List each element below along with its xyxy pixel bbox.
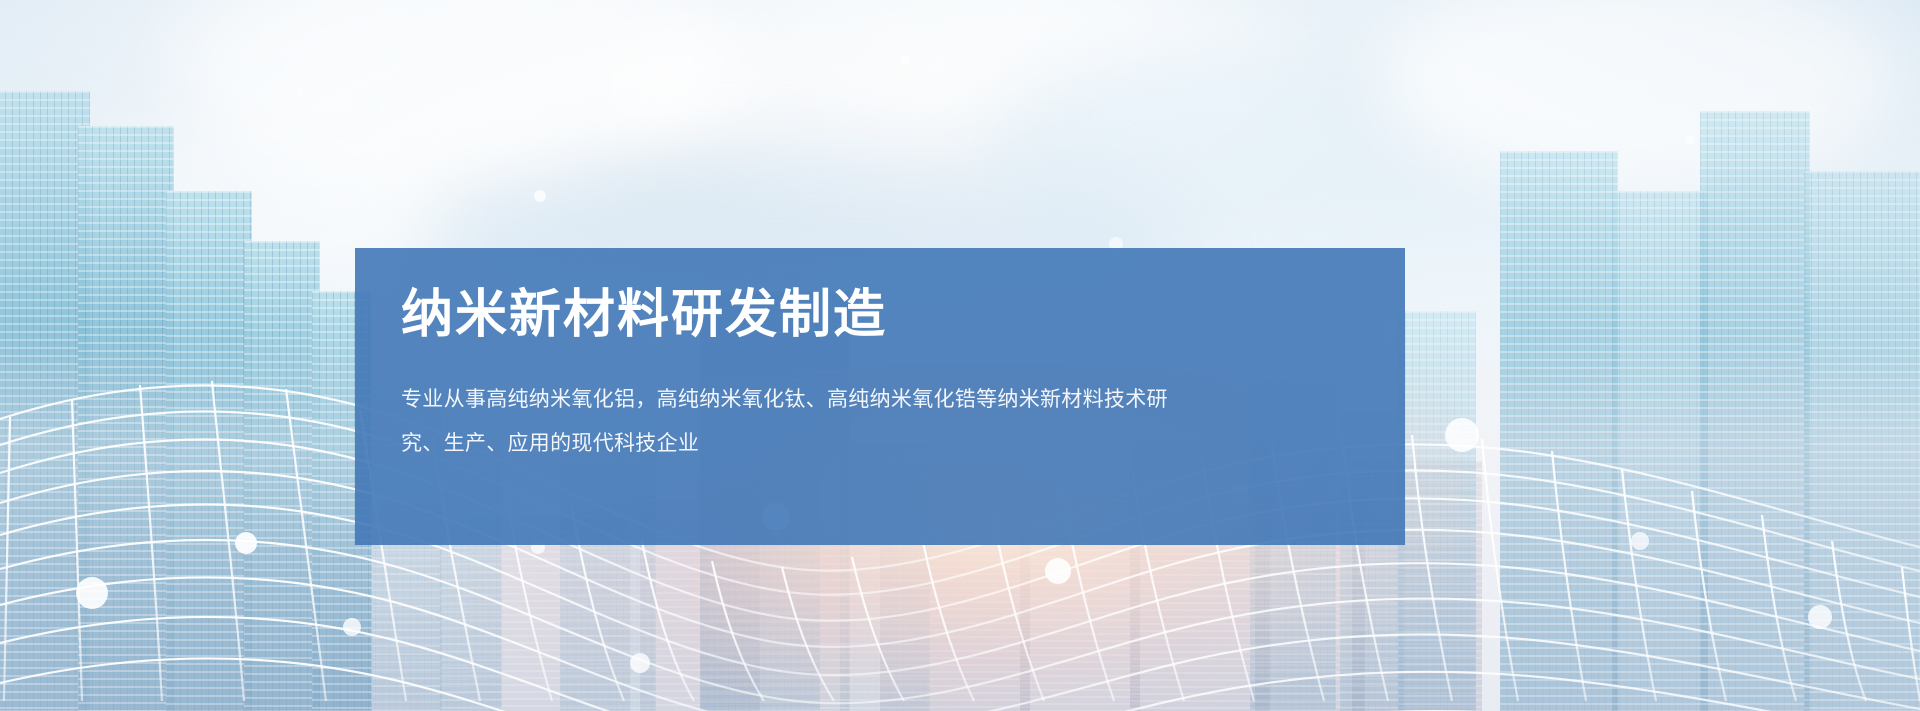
building-tower — [1500, 151, 1618, 711]
building-tower — [1804, 171, 1920, 711]
building-tower — [0, 91, 90, 711]
building-tower — [1700, 111, 1810, 711]
building-tower — [1612, 191, 1708, 711]
page-title: 纳米新材料研发制造 — [401, 248, 1375, 344]
building-tower — [166, 191, 252, 711]
page-subtitle: 专业从事高纯纳米氧化铝，高纯纳米氧化钛、高纯纳米氧化锆等纳米新材料技术研究、生产… — [401, 344, 1201, 466]
building-tower — [78, 126, 174, 711]
hero-text-panel: 纳米新材料研发制造 专业从事高纯纳米氧化铝，高纯纳米氧化钛、高纯纳米氧化锆等纳米… — [355, 248, 1405, 545]
building-tower — [1398, 311, 1476, 711]
building-tower — [244, 241, 320, 711]
hero-banner: 纳米新材料研发制造 专业从事高纯纳米氧化铝，高纯纳米氧化钛、高纯纳米氧化锆等纳米… — [0, 0, 1920, 711]
hero-text-container: 纳米新材料研发制造 专业从事高纯纳米氧化铝，高纯纳米氧化钛、高纯纳米氧化锆等纳米… — [401, 248, 1375, 466]
